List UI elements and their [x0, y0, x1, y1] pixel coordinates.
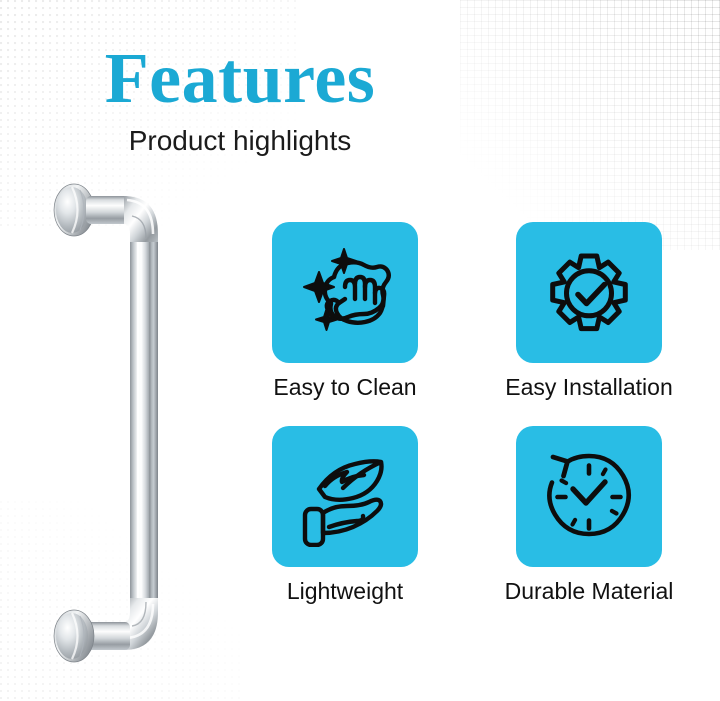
- hand-wiping-cloth-sparkle-icon: [293, 243, 397, 343]
- feature-label-easy-to-clean: Easy to Clean: [273, 374, 416, 400]
- grab-bar-top-arm: [86, 196, 130, 224]
- gear-checkmark-icon: [537, 241, 641, 345]
- feature-tile-easy-to-clean[interactable]: [272, 222, 418, 363]
- feature-label-durable-material: Durable Material: [505, 578, 674, 604]
- page-subtitle: Product highlights: [0, 114, 720, 157]
- feature-item-lightweight[interactable]: Lightweight: [232, 426, 458, 604]
- product-image-grab-bar: [28, 160, 193, 680]
- grab-bar-top-elbow: [124, 196, 158, 248]
- page-title: Features: [0, 0, 720, 114]
- feature-tile-durable-material[interactable]: [516, 426, 662, 567]
- header: Features Product highlights: [0, 0, 720, 157]
- features-grid: Easy to Clean Easy Installation: [232, 222, 702, 605]
- feature-item-easy-to-clean[interactable]: Easy to Clean: [232, 222, 458, 400]
- feature-item-durable-material[interactable]: Durable Material: [476, 426, 702, 604]
- feature-infographic: Features Product highlights: [0, 0, 720, 701]
- grab-bar-bottom-flange: [54, 610, 94, 662]
- clock-checkmark-arrow-icon: [537, 445, 641, 549]
- feature-tile-lightweight[interactable]: [272, 426, 418, 567]
- feature-label-easy-installation: Easy Installation: [505, 374, 672, 400]
- feather-in-hand-icon: [293, 447, 397, 547]
- feature-item-easy-installation[interactable]: Easy Installation: [476, 222, 702, 400]
- feature-label-lightweight: Lightweight: [287, 578, 403, 604]
- grab-bar-vertical-tube: [130, 242, 158, 606]
- feature-tile-easy-installation[interactable]: [516, 222, 662, 363]
